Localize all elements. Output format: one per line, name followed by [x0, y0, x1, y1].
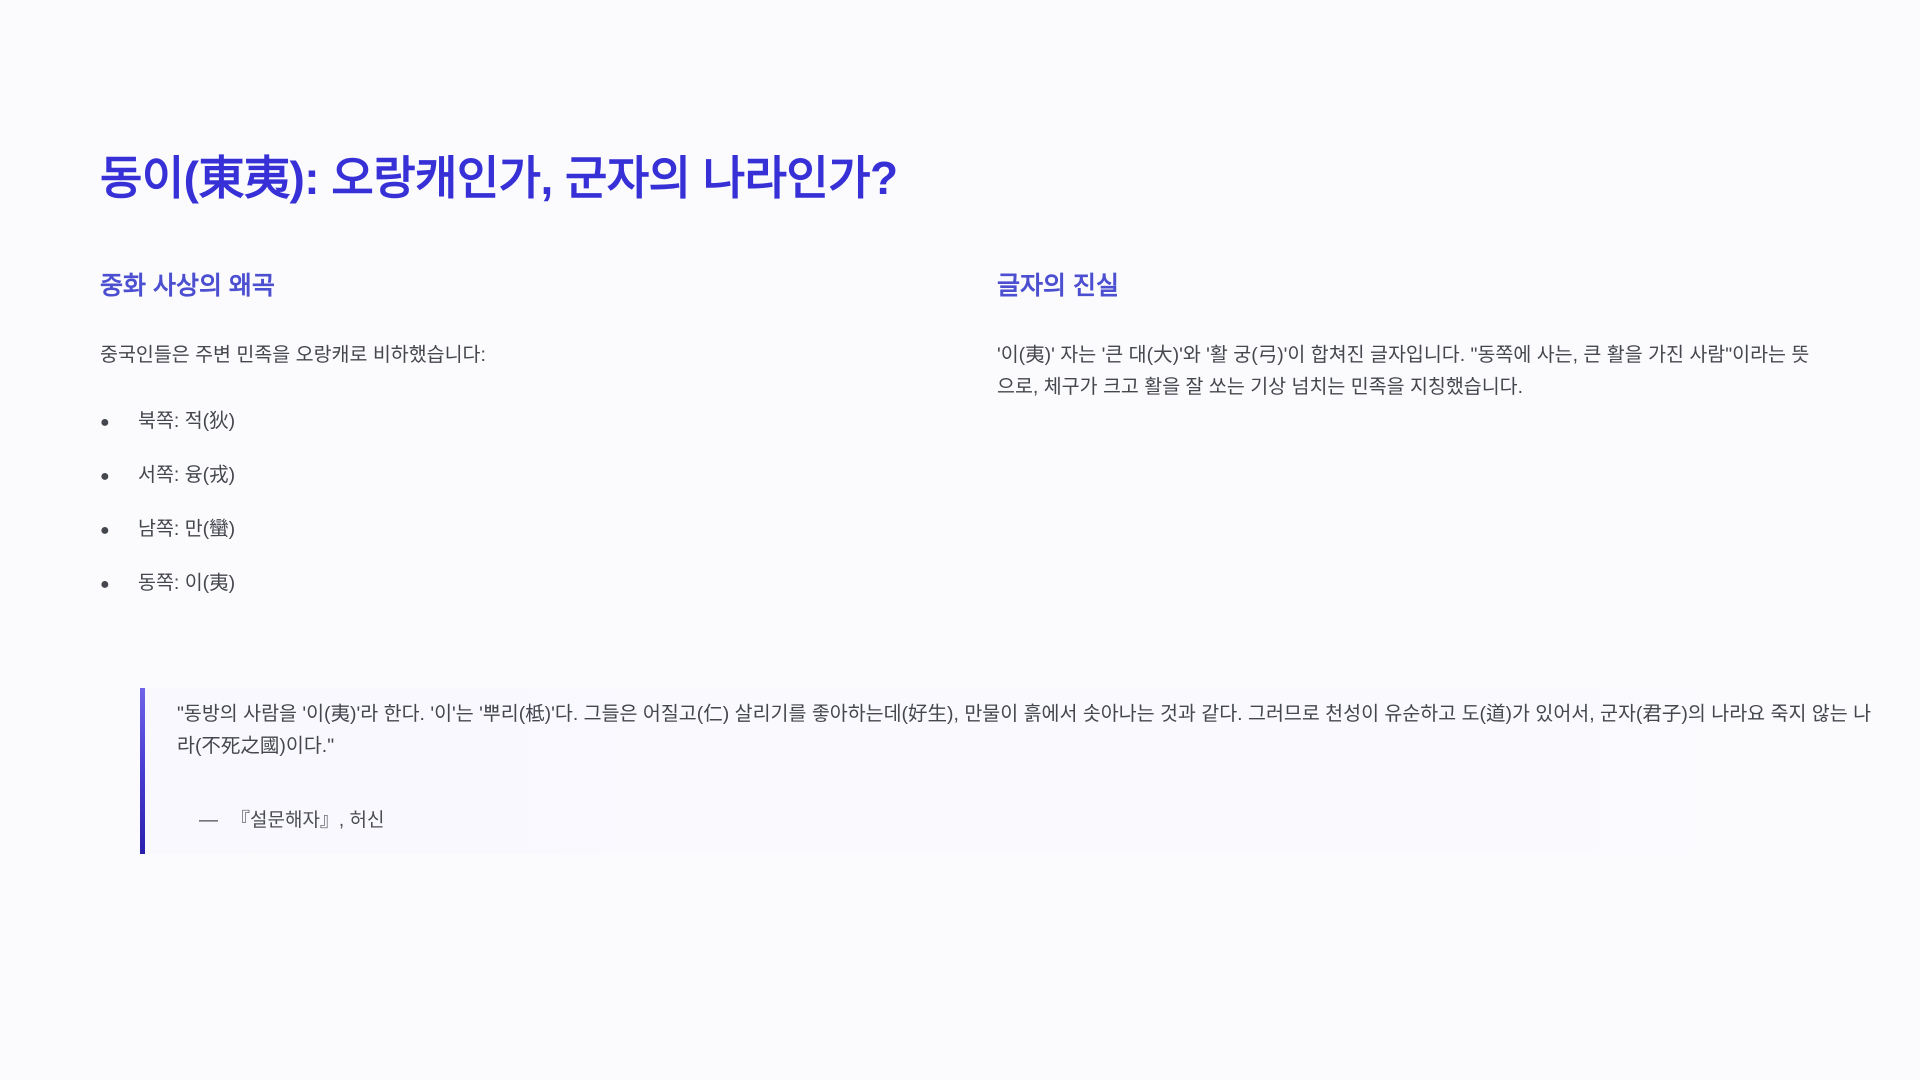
bullet-dot-icon: ●	[100, 410, 138, 436]
list-item-label: 북쪽: 적(狄)	[138, 406, 923, 437]
left-column-intro-text: 중국인들은 주변 민족을 오랑캐로 비하했습니다:	[100, 340, 923, 372]
list-item-label: 남쪽: 만(蠻)	[138, 514, 923, 545]
list-item-label: 서쪽: 융(戎)	[138, 460, 923, 491]
list-item: ● 동쪽: 이(夷)	[100, 568, 923, 599]
right-column: 글자의 진실 '이(夷)' 자는 '큰 대(大)'와 '활 궁(弓)'이 합쳐진…	[997, 270, 1820, 404]
two-column-layout: 중화 사상의 왜곡 중국인들은 주변 민족을 오랑캐로 비하했습니다: ● 북쪽…	[100, 270, 1820, 623]
quotation-text: "동방의 사람을 '이(夷)'라 한다. '이'는 '뿌리(柢)'다. 그들은 …	[177, 698, 1880, 763]
left-column: 중화 사상의 왜곡 중국인들은 주변 민족을 오랑캐로 비하했습니다: ● 북쪽…	[100, 270, 923, 623]
list-item-label: 동쪽: 이(夷)	[138, 568, 923, 599]
attribution-dash: —	[199, 810, 218, 831]
page-title: 동이(東夷): 오랑캐인가, 군자의 나라인가?	[100, 150, 1820, 208]
barbarian-directions-list: ● 북쪽: 적(狄) ● 서쪽: 융(戎) ● 남쪽: 만(蠻) ● 동쪽: 이…	[100, 406, 923, 600]
bullet-dot-icon: ●	[100, 464, 138, 490]
slide-root: 동이(東夷): 오랑캐인가, 군자의 나라인가? 중화 사상의 왜곡 중국인들은…	[0, 0, 1920, 1080]
list-item: ● 서쪽: 융(戎)	[100, 460, 923, 491]
list-item: ● 북쪽: 적(狄)	[100, 406, 923, 437]
list-item: ● 남쪽: 만(蠻)	[100, 514, 923, 545]
attribution-source: 『설문해자』, 허신	[231, 810, 384, 831]
bullet-dot-icon: ●	[100, 518, 138, 544]
bullet-dot-icon: ●	[100, 572, 138, 598]
quotation-block: "동방의 사람을 '이(夷)'라 한다. '이'는 '뿌리(柢)'다. 그들은 …	[140, 688, 1880, 854]
right-column-heading: 글자의 진실	[997, 270, 1820, 303]
right-column-body-text: '이(夷)' 자는 '큰 대(大)'와 '활 궁(弓)'이 합쳐진 글자입니다.…	[997, 340, 1820, 403]
quotation-attribution: —『설문해자』, 허신	[199, 806, 1880, 836]
left-column-heading: 중화 사상의 왜곡	[100, 270, 923, 303]
